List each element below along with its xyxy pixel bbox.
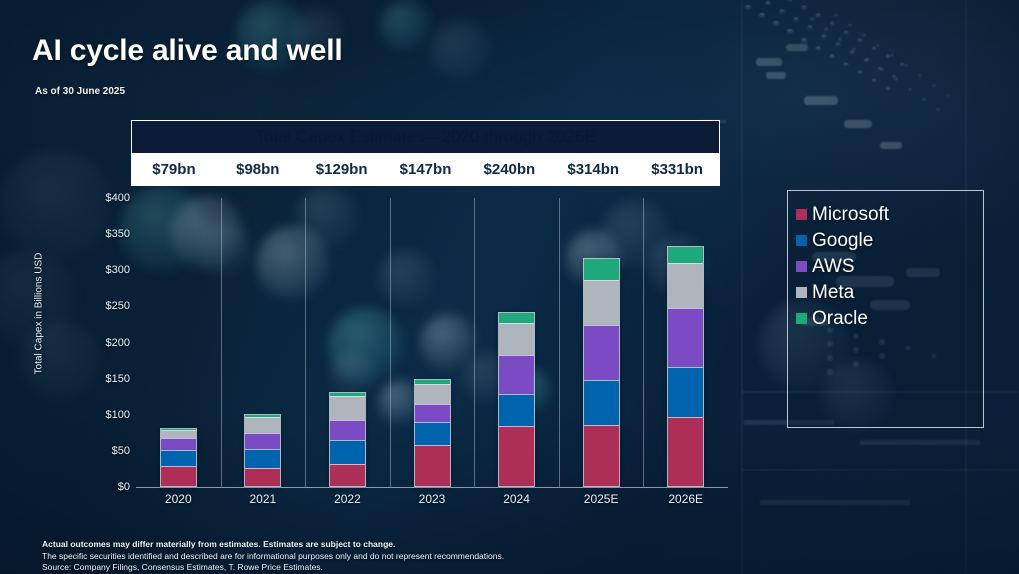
chart-bar[interactable] (244, 414, 281, 487)
bar-segment-meta[interactable] (161, 430, 196, 437)
y-axis-ticks: $0$50$100$150$200$250$300$350$400 (82, 186, 130, 506)
chart-gridline (474, 198, 475, 487)
page-title: AI cycle alive and well (32, 34, 343, 68)
bar-segment-microsoft[interactable] (161, 466, 196, 486)
legend-item-microsoft[interactable]: Microsoft (796, 201, 983, 227)
bar-segment-google[interactable] (161, 450, 196, 466)
bar-segment-google[interactable] (415, 422, 450, 444)
chart-gridline (305, 198, 306, 487)
bar-segment-meta[interactable] (330, 396, 365, 421)
bar-segment-aws[interactable] (415, 404, 450, 423)
y-axis-tick-label: $0 (82, 481, 130, 493)
legend-label: Oracle (812, 309, 868, 328)
x-axis-label: 2023 (392, 492, 472, 506)
capex-value-cell: $129bn (300, 153, 384, 185)
y-axis-title: Total Capex in Billions USD (34, 244, 45, 384)
chart-plot-area (136, 186, 728, 487)
bar-segment-microsoft[interactable] (668, 417, 703, 486)
bar-segment-meta[interactable] (584, 280, 619, 325)
bar-segment-microsoft[interactable] (415, 445, 450, 486)
as-of-date: As of 30 June 2025 (35, 86, 125, 97)
bar-segment-google[interactable] (499, 394, 534, 426)
capex-table-values-row: $79bn$98bn$129bn$147bn$240bn$314bn$331bn (132, 153, 719, 185)
capex-estimates-table: Total Capex Estimates—2020 through 2026E… (131, 120, 720, 186)
bar-segment-meta[interactable] (415, 384, 450, 404)
legend-swatch-icon (796, 261, 807, 272)
capex-value-cell: $331bn (635, 153, 719, 185)
chart-gridline (390, 198, 391, 487)
x-axis-label: 2021 (223, 492, 303, 506)
x-axis-label: 2022 (307, 492, 387, 506)
bar-segment-aws[interactable] (161, 438, 196, 450)
bar-segment-microsoft[interactable] (245, 468, 280, 486)
capex-value-cell: $79bn (132, 153, 216, 185)
bar-segment-meta[interactable] (245, 417, 280, 433)
legend-item-aws[interactable]: AWS (796, 253, 983, 279)
legend-item-google[interactable]: Google (796, 227, 983, 253)
bar-segment-aws[interactable] (584, 325, 619, 380)
bar-segment-google[interactable] (330, 440, 365, 464)
legend-item-oracle[interactable]: Oracle (796, 305, 983, 331)
footnote-line: The specific securities identified and d… (42, 551, 504, 563)
bar-segment-microsoft[interactable] (584, 425, 619, 486)
chart-bar[interactable] (667, 246, 704, 487)
x-axis-labels: 202020212022202320242025E2026E (136, 492, 728, 514)
x-axis-label: 2020 (138, 492, 218, 506)
y-axis-tick-label: $200 (82, 337, 130, 349)
capex-value-cell: $314bn (551, 153, 635, 185)
bar-segment-google[interactable] (668, 367, 703, 418)
y-axis-tick-label: $150 (82, 373, 130, 385)
y-axis-tick-label: $400 (82, 192, 130, 204)
legend-label: Google (812, 231, 873, 250)
legend-swatch-icon (796, 235, 807, 246)
chart-bar[interactable] (498, 312, 535, 487)
chart-bar[interactable] (583, 258, 620, 487)
bar-segment-google[interactable] (584, 380, 619, 425)
x-axis-label: 2025E (561, 492, 641, 506)
bar-segment-google[interactable] (245, 449, 280, 468)
y-axis-tick-label: $100 (82, 409, 130, 421)
footnote-line: Source: Company Filings, Consensus Estim… (42, 562, 504, 574)
legend-label: Microsoft (812, 205, 889, 224)
bar-segment-aws[interactable] (245, 433, 280, 449)
legend-label: Meta (812, 283, 854, 302)
stacked-bar-chart: Total Capex in Billions USD $0$50$100$15… (0, 186, 760, 506)
chart-bar[interactable] (414, 379, 451, 487)
capex-value-cell: $98bn (216, 153, 300, 185)
y-axis-tick-label: $50 (82, 445, 130, 457)
chart-bar[interactable] (160, 428, 197, 487)
bar-segment-aws[interactable] (499, 355, 534, 395)
chart-legend: MicrosoftGoogleAWSMetaOracle (787, 190, 984, 428)
chart-gridline (643, 198, 644, 487)
x-axis-label: 2026E (646, 492, 726, 506)
bar-segment-oracle[interactable] (668, 247, 703, 263)
legend-item-meta[interactable]: Meta (796, 279, 983, 305)
bar-segment-meta[interactable] (499, 323, 534, 354)
capex-table-title: Total Capex Estimates—2020 through 2026E (132, 121, 719, 153)
footnotes: Actual outcomes may differ materially fr… (42, 539, 504, 574)
legend-label: AWS (812, 257, 855, 276)
legend-swatch-icon (796, 209, 807, 220)
bar-segment-aws[interactable] (330, 420, 365, 440)
y-axis-tick-label: $300 (82, 264, 130, 276)
footnote-line: Actual outcomes may differ materially fr… (42, 539, 504, 551)
bar-segment-microsoft[interactable] (330, 464, 365, 486)
chart-bar[interactable] (329, 392, 366, 487)
legend-swatch-icon (796, 287, 807, 298)
capex-value-cell: $147bn (384, 153, 468, 185)
bar-segment-oracle[interactable] (584, 259, 619, 280)
bar-segment-meta[interactable] (668, 263, 703, 308)
capex-value-cell: $240bn (467, 153, 551, 185)
bar-segment-aws[interactable] (668, 308, 703, 367)
y-axis-tick-label: $250 (82, 300, 130, 312)
y-axis-tick-label: $350 (82, 228, 130, 240)
chart-gridline (559, 198, 560, 487)
legend-swatch-icon (796, 313, 807, 324)
x-axis-label: 2024 (477, 492, 557, 506)
slide-root: AI cycle alive and well As of 30 June 20… (0, 0, 1019, 574)
chart-gridline (221, 198, 222, 487)
x-axis-line (136, 487, 728, 488)
bar-segment-microsoft[interactable] (499, 426, 534, 486)
bar-segment-oracle[interactable] (499, 313, 534, 324)
